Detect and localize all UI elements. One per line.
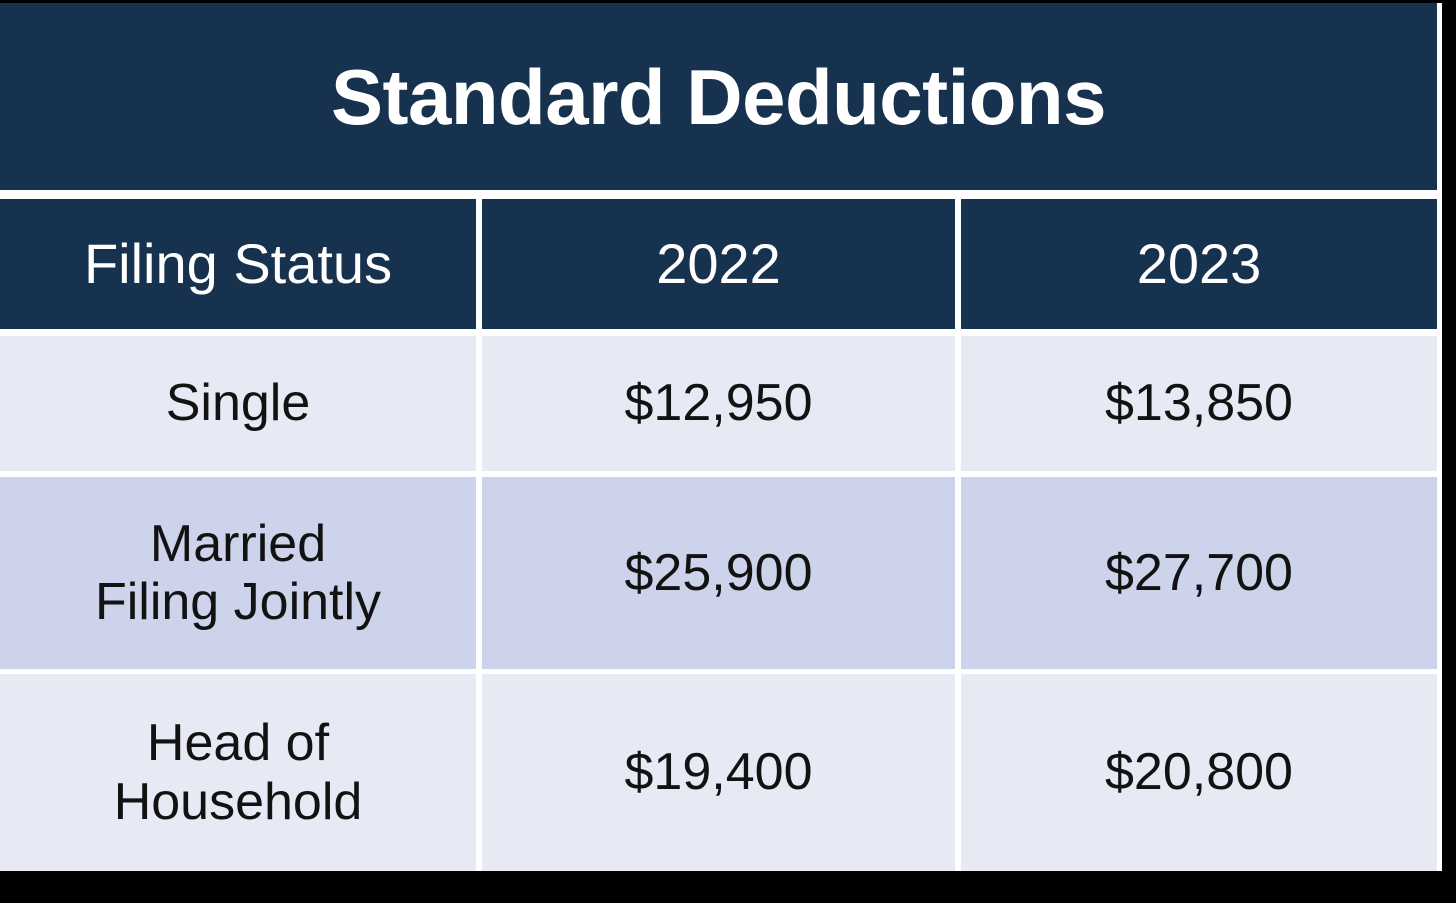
title-banner: Standard Deductions (0, 3, 1437, 190)
cell-value-2022: $12,950 (482, 336, 955, 471)
content-area: Standard Deductions Filing Status 2022 2… (0, 3, 1442, 871)
standard-deductions-table: Filing Status 2022 2023 Single $12,950 $… (0, 199, 1437, 871)
table-row: Head of Household $19,400 $20,800 (0, 674, 1437, 871)
table-header-row: Filing Status 2022 2023 (0, 199, 1437, 329)
frame-band-bottom (0, 871, 1456, 903)
table-row: Married Filing Jointly $25,900 $27,700 (0, 477, 1437, 669)
slide-canvas: Standard Deductions Filing Status 2022 2… (0, 0, 1456, 903)
cell-filing-status: Single (0, 336, 476, 471)
cell-value-2022: $19,400 (482, 674, 955, 871)
cell-filing-status: Head of Household (0, 674, 476, 871)
table-row: Single $12,950 $13,850 (0, 336, 1437, 471)
cell-filing-status: Married Filing Jointly (0, 477, 476, 669)
cell-value-2022: $25,900 (482, 477, 955, 669)
header-cell-2022: 2022 (482, 199, 955, 329)
cell-value-2023: $27,700 (961, 477, 1437, 669)
header-cell-filing-status: Filing Status (0, 199, 476, 329)
page-title: Standard Deductions (331, 58, 1106, 136)
cell-value-2023: $13,850 (961, 336, 1437, 471)
frame-band-right (1442, 0, 1456, 903)
header-cell-2023: 2023 (961, 199, 1437, 329)
frame-band-top (0, 0, 1456, 3)
cell-value-2023: $20,800 (961, 674, 1437, 871)
